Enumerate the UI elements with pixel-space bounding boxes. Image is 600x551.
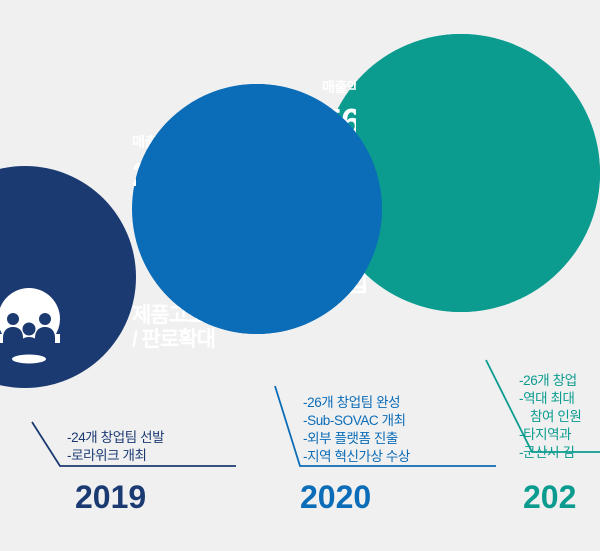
- note-item: -지역 혁신가상 수상: [303, 448, 410, 466]
- note-item: -26개 창업팀 완성: [303, 394, 410, 412]
- year-label-2021: 202: [523, 481, 576, 513]
- revenue-value-2019: 2억 원: [0, 226, 136, 256]
- note-item: -24개 창업팀 선발: [67, 429, 164, 447]
- note-item: -Sub-SOVAC 개최: [303, 412, 410, 430]
- year-label-2019: 2019: [75, 481, 146, 513]
- notes-2019: -24개 창업팀 선발 -로라위크 개최: [67, 429, 164, 465]
- year-label-2020: 2020: [300, 481, 371, 513]
- revenue-label-2019: 매출액: [0, 206, 136, 219]
- blue-overlap-arc: [132, 84, 382, 334]
- infographic-canvas: 매출액 56.5억 원 자립 매출액 29억 원: [0, 0, 600, 551]
- notes-2020: -26개 창업팀 완성 -Sub-SOVAC 개최 -외부 플랫폼 진출 -지역…: [303, 394, 410, 466]
- note-item: -타지역과: [519, 426, 581, 444]
- note-item: 참여 인원: [519, 408, 581, 426]
- three-people-group-icon: [0, 286, 62, 364]
- note-item: -26개 창업: [519, 372, 581, 390]
- notes-2021: -26개 창업 -역대 최대 참여 인원 -타지역과 -군산시 김: [519, 372, 581, 462]
- caption-2019: 정착: [0, 370, 136, 395]
- note-item: -로라위크 개최: [67, 447, 164, 465]
- note-item: -군산시 김: [519, 444, 581, 462]
- note-item: -외부 플랫폼 진출: [303, 430, 410, 448]
- note-item: -역대 최대: [519, 390, 581, 408]
